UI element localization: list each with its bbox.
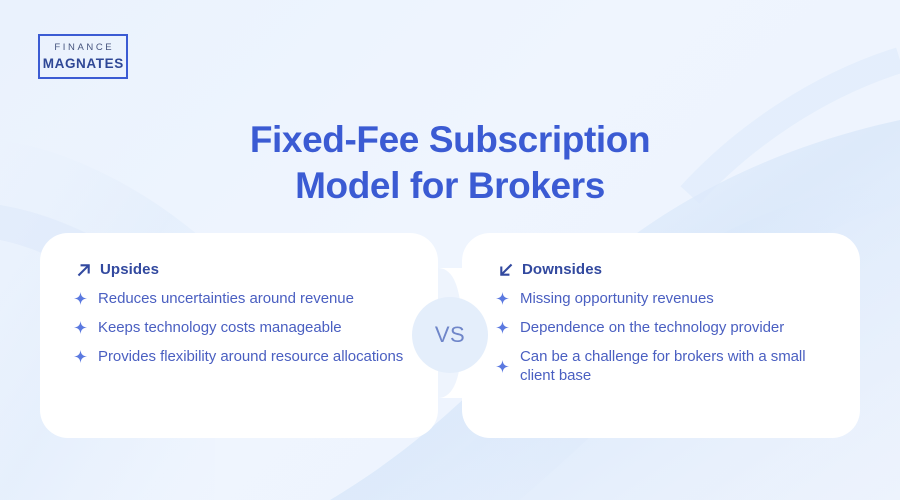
arrow-up-right-icon: [76, 262, 92, 278]
list-item: Reduces uncertainties around revenue: [74, 289, 404, 309]
list-item: Can be a challenge for brokers with a sm…: [496, 347, 836, 387]
page-title-line-1: Fixed-Fee Subscription: [0, 117, 900, 163]
sparkle-icon: [496, 292, 509, 305]
list-item-label: Keeps technology costs manageable: [98, 318, 342, 338]
page-title: Fixed-Fee Subscription Model for Brokers: [0, 117, 900, 210]
sparkle-icon: [496, 360, 509, 373]
list-item-label: Dependence on the technology provider: [520, 318, 784, 338]
list-item: Missing opportunity revenues: [496, 289, 836, 309]
downsides-list: Missing opportunity revenues Dependence …: [496, 289, 836, 386]
logo-line-magnates: MAGNATES: [42, 57, 124, 71]
upsides-heading: Upsides: [76, 261, 159, 278]
page-title-line-2: Model for Brokers: [0, 163, 900, 209]
list-item: Keeps technology costs manageable: [74, 318, 404, 338]
arrow-down-left-icon: [498, 262, 514, 278]
logo-line-finance: FINANCE: [52, 43, 115, 53]
versus-badge-label: VS: [435, 322, 465, 348]
finance-magnates-logo[interactable]: FINANCE MAGNATES: [38, 34, 128, 79]
list-item-label: Can be a challenge for brokers with a sm…: [520, 347, 836, 387]
list-item-label: Provides flexibility around resource all…: [98, 347, 403, 367]
list-item: Provides flexibility around resource all…: [74, 347, 404, 367]
sparkle-icon: [74, 292, 87, 305]
sparkle-icon: [74, 350, 87, 363]
list-item: Dependence on the technology provider: [496, 318, 836, 338]
downsides-heading: Downsides: [498, 261, 602, 278]
upsides-heading-label: Upsides: [100, 261, 159, 278]
sparkle-icon: [74, 321, 87, 334]
versus-badge: VS: [412, 297, 488, 373]
sparkle-icon: [496, 321, 509, 334]
infographic-canvas: FINANCE MAGNATES Fixed-Fee Subscription …: [0, 0, 900, 500]
upsides-list: Reduces uncertainties around revenue Kee…: [74, 289, 404, 366]
list-item-label: Missing opportunity revenues: [520, 289, 714, 309]
list-item-label: Reduces uncertainties around revenue: [98, 289, 354, 309]
downsides-heading-label: Downsides: [522, 261, 602, 278]
